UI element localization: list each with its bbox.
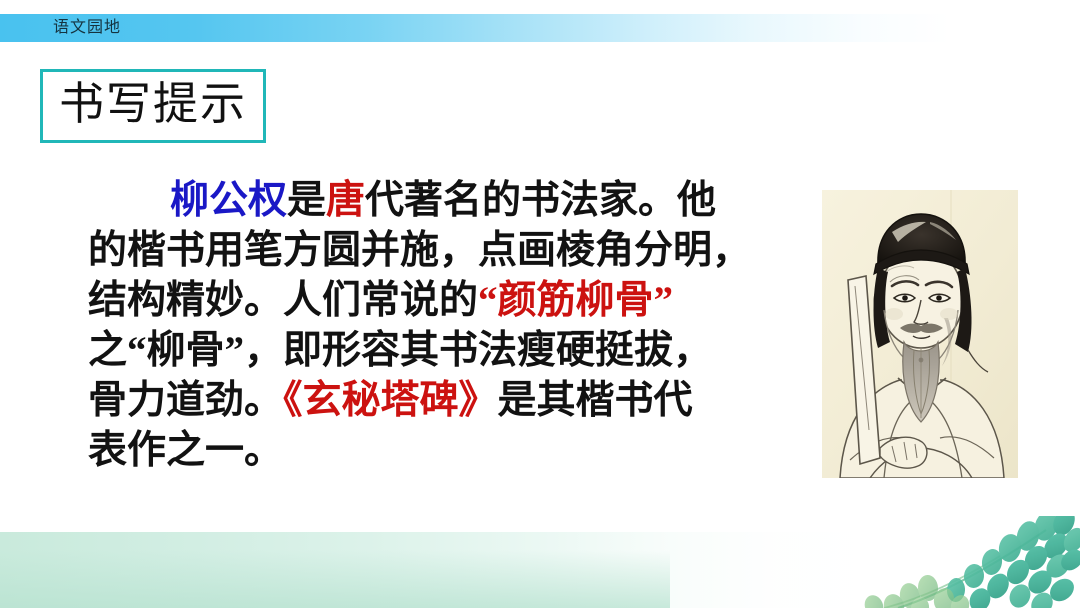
body-text-line: 表作之一。 xyxy=(88,426,793,476)
body-text-line: 之“柳骨”，即形容其书法瘦硬挺拔， xyxy=(88,326,793,376)
section-title-label: 书写提示 xyxy=(59,76,247,132)
header-title: 语文园地 xyxy=(53,17,121,39)
section-title-box: 书写提示 xyxy=(40,69,266,143)
body-text-segment-red: “颜筋柳骨” xyxy=(478,279,673,322)
body-text-segment-red: 唐 xyxy=(326,179,365,222)
watercolor-leaf-sprig-icon xyxy=(850,516,1080,608)
liu-gongquan-portrait xyxy=(822,190,1018,478)
body-text-segment-black: 之“柳骨”，即形容其书法瘦硬挺拔， xyxy=(88,329,712,372)
bottom-mint-band-soft xyxy=(0,550,670,608)
body-text-line: 柳公权是唐代著名的书法家。他 xyxy=(88,176,793,226)
body-text-segment-black: 表作之一。 xyxy=(88,429,283,472)
body-text-segment-black: 代著名的书法家。他 xyxy=(365,179,716,222)
body-text-line: 结构精妙。人们常说的“颜筋柳骨” xyxy=(88,276,793,326)
lesson-body-text: 柳公权是唐代著名的书法家。他的楷书用笔方圆并施，点画棱角分明，结构精妙。人们常说… xyxy=(88,176,793,476)
header-gradient-bar xyxy=(0,14,1080,42)
body-text-line: 骨力道劲。《玄秘塔碑》是其楷书代 xyxy=(88,376,793,426)
body-text-segment-black: 结构精妙。人们常说的 xyxy=(88,279,478,322)
body-text-line: 的楷书用笔方圆并施，点画棱角分明， xyxy=(88,226,793,276)
body-text-segment-black: 骨力道劲。 xyxy=(88,379,283,422)
body-text-segment-black: 的楷书用笔方圆并施，点画棱角分明， xyxy=(88,229,751,272)
body-text-segment-red: 《玄秘塔碑》 xyxy=(283,379,498,422)
body-text-segment-blue: 柳公权 xyxy=(170,179,287,222)
body-text-segment-black: 是其楷书代 xyxy=(498,379,693,422)
body-text-segment-black: 是 xyxy=(287,179,326,222)
